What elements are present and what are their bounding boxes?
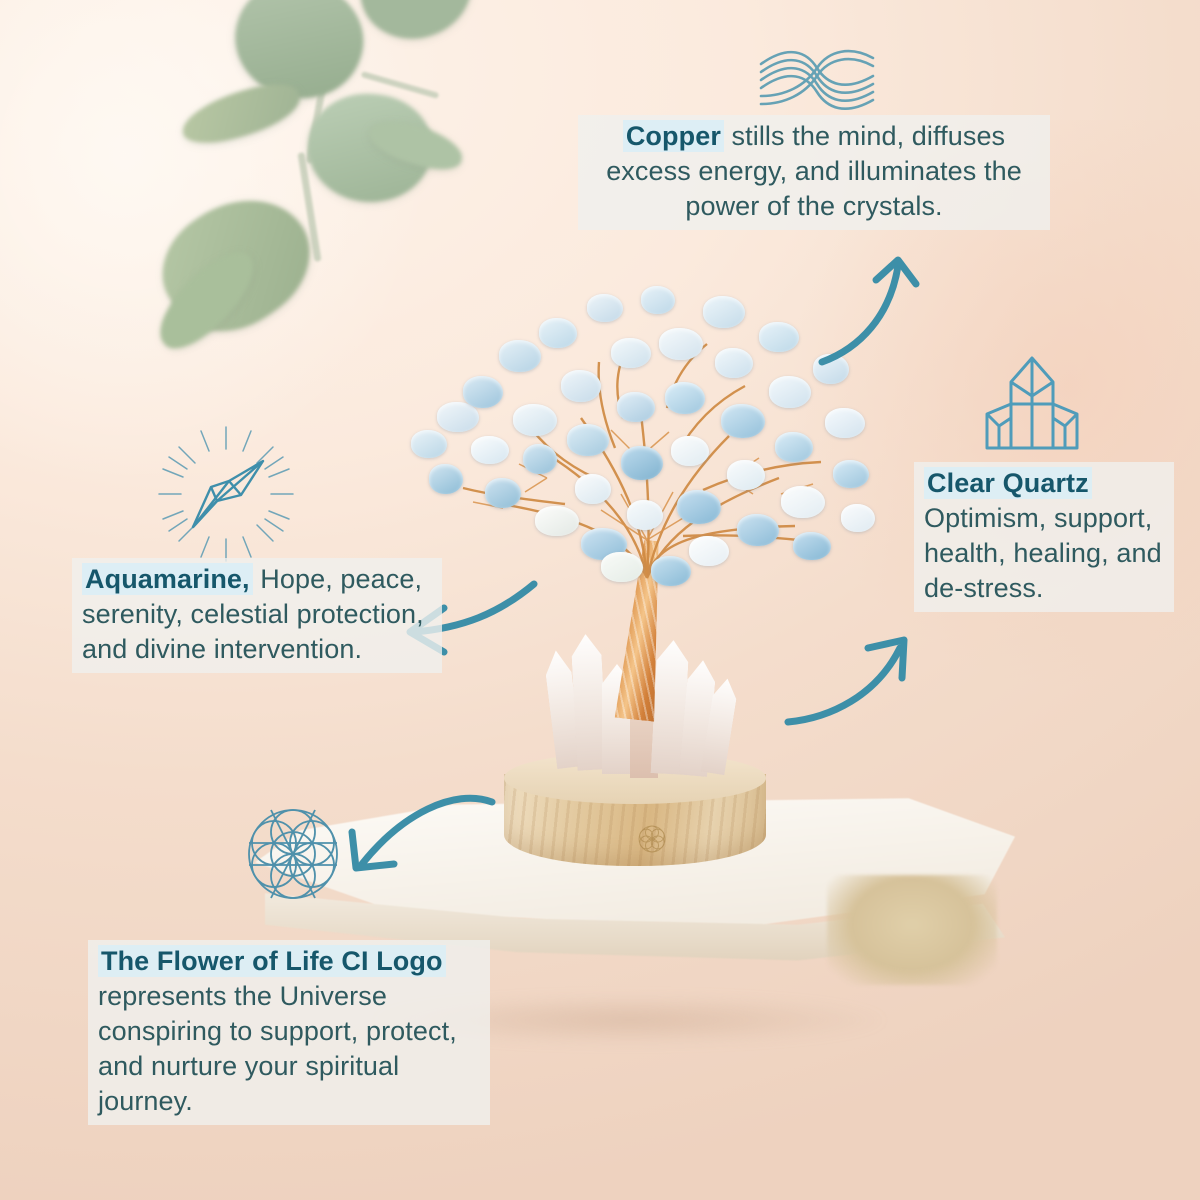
callout-aquamarine: Aquamarine, Hope, peace, serenity, celes… [72,558,442,673]
callout-clear-quartz-heading: Clear Quartz [924,467,1092,499]
callout-flower-of-life: The Flower of Life CI Logo represents th… [88,940,490,1125]
crystal-cluster-icon [975,352,1089,464]
callout-clear-quartz-body: Optimism, support, health, healing, and … [924,503,1162,603]
callout-copper-heading: Copper [623,120,724,152]
callout-flower-of-life-body: represents the Universe conspiring to su… [98,981,457,1116]
flower-of-life-icon [232,793,354,915]
flower-of-life-engraving-icon [633,820,671,858]
infographic-canvas: Copper stills the mind, diffuses excess … [0,0,1200,1200]
callout-flower-of-life-heading: The Flower of Life CI Logo [98,945,446,977]
callout-clear-quartz: Clear QuartzOptimism, support, health, h… [914,462,1174,612]
sparkling-gem-icon [155,423,297,565]
curved-arrow-down-left-icon [340,778,502,890]
slab-rough-edge [827,875,997,985]
braided-copper-wire-icon [755,38,879,120]
callout-copper: Copper stills the mind, diffuses excess … [578,115,1050,230]
curved-arrow-up-right-icon [782,630,916,742]
callout-aquamarine-heading: Aquamarine, [82,563,253,595]
curved-arrow-up-icon [812,252,930,368]
